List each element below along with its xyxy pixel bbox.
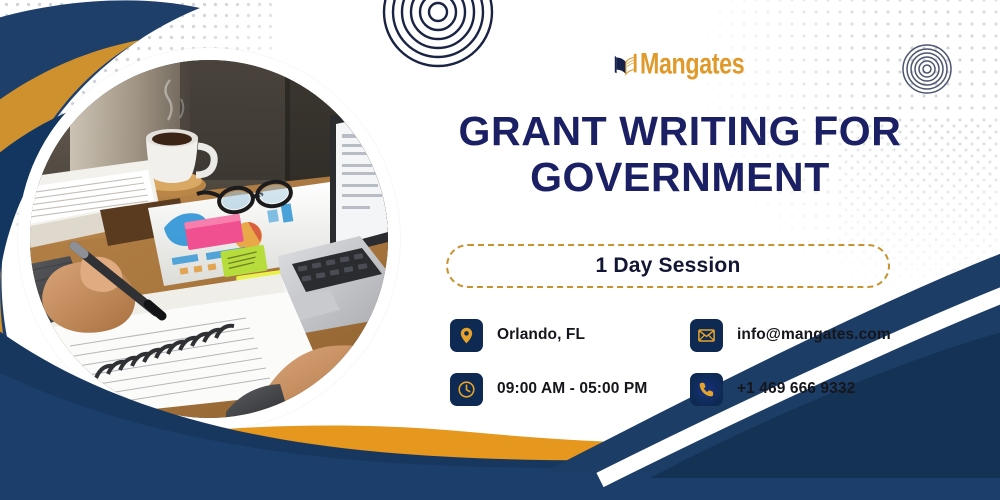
contact-time-text: 09:00 AM - 05:00 PM	[497, 380, 647, 398]
contact-email-text: info@mangates.com	[737, 326, 891, 344]
open-book-icon	[612, 38, 639, 90]
contact-location: Orlando, FL	[450, 315, 690, 355]
contact-phone-text: +1 469 666 9332	[737, 380, 855, 398]
contact-email[interactable]: info@mangates.com	[690, 315, 930, 355]
concentric-rings-top-icon	[382, 0, 494, 68]
brand-logo-text: Mangates	[640, 49, 744, 79]
clock-icon	[450, 373, 483, 406]
phone-icon	[690, 373, 723, 406]
location-pin-icon	[450, 319, 483, 352]
contact-time: 09:00 AM - 05:00 PM	[450, 369, 690, 409]
concentric-rings-right-icon	[902, 44, 952, 94]
brand-logo[interactable]: Mangates	[612, 36, 752, 92]
session-badge: 1 Day Session	[446, 244, 890, 288]
page-title: GRANT WRITING FOR GOVERNMENT	[430, 108, 930, 201]
event-promo-banner: Mangates GRANT WRITING FOR GOVERNMENT 1 …	[0, 0, 1000, 500]
contact-details: Orlando, FL info@mangates.com 09:00 AM -…	[450, 315, 930, 409]
contact-location-text: Orlando, FL	[497, 326, 585, 344]
contact-phone[interactable]: +1 469 666 9332	[690, 369, 930, 409]
session-badge-label: 1 Day Session	[595, 254, 740, 278]
envelope-icon	[690, 319, 723, 352]
